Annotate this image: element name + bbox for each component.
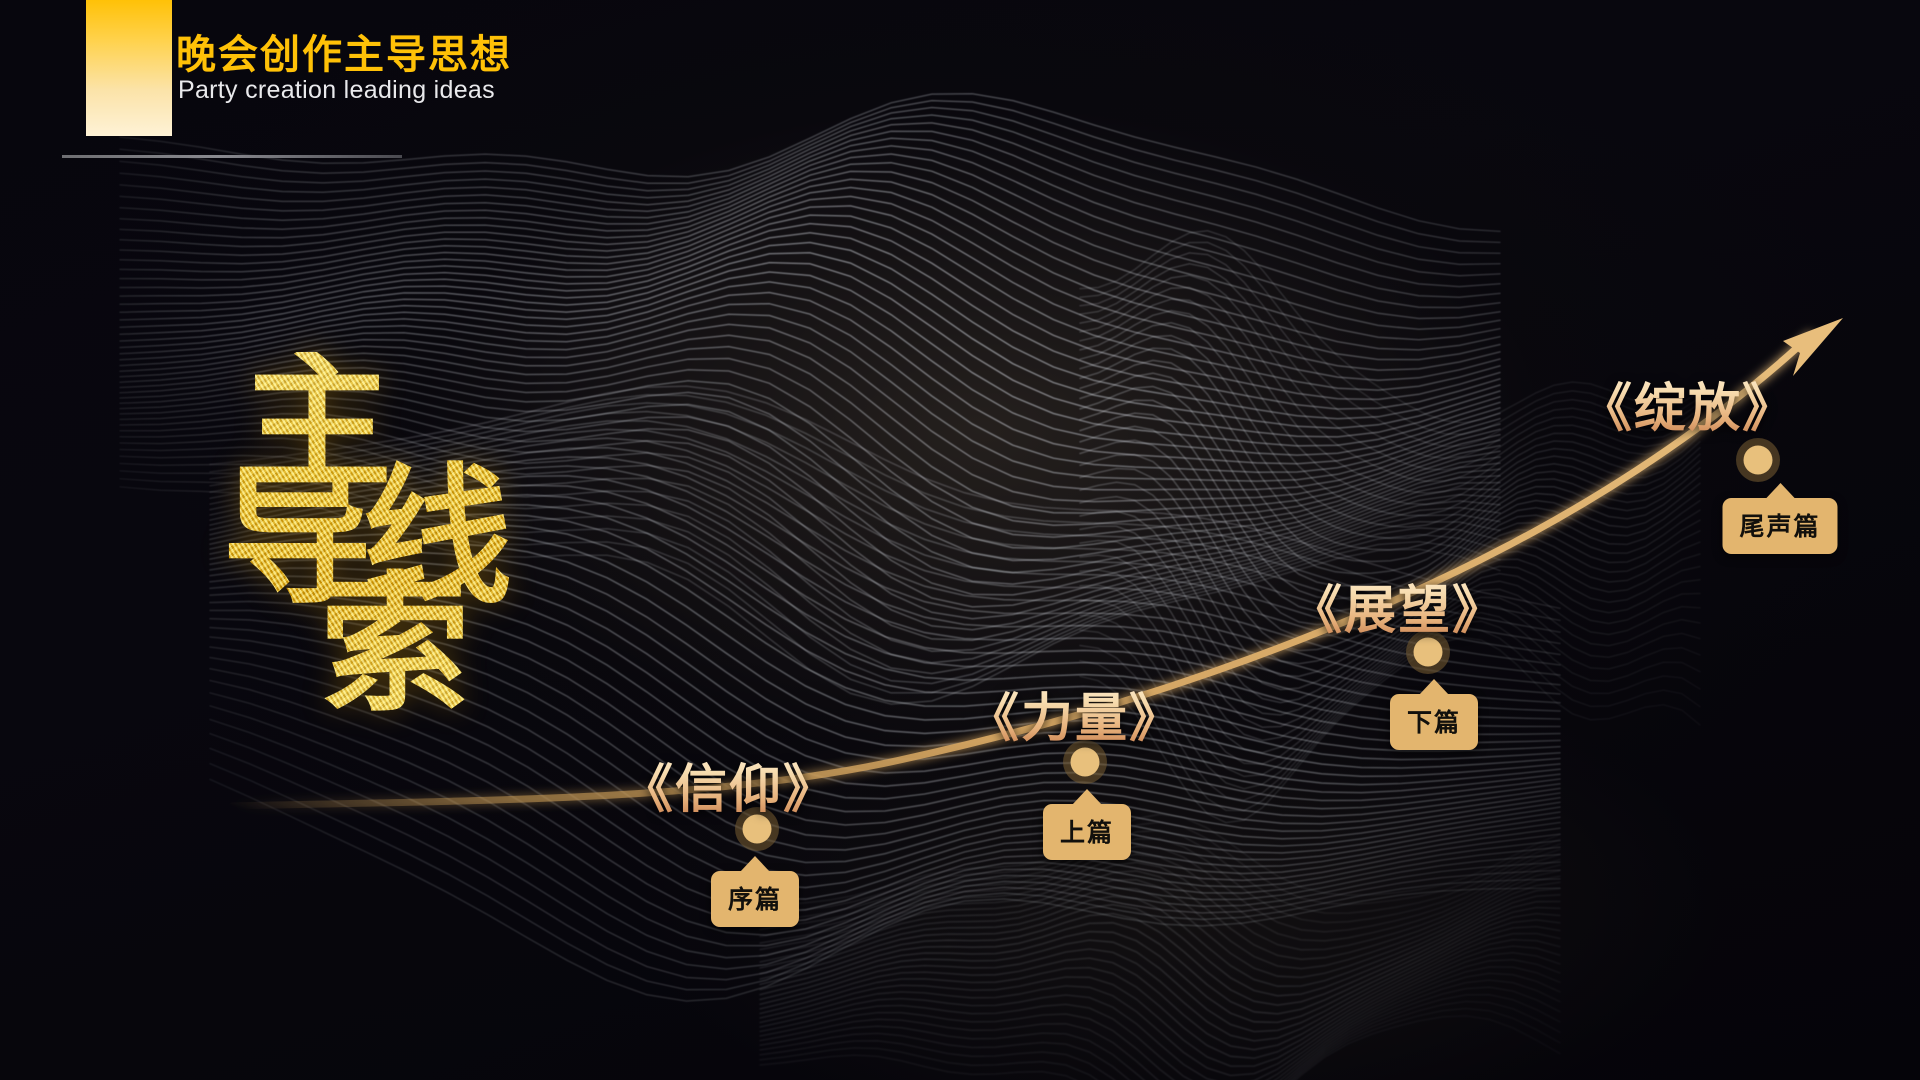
milestone-badge-4[interactable]: 尾声篇 bbox=[1722, 498, 1837, 554]
milestone-title-1: 《信仰》 bbox=[621, 747, 837, 822]
milestone-badge-3[interactable]: 下篇 bbox=[1390, 694, 1478, 750]
milestone-node-4[interactable] bbox=[1736, 438, 1780, 482]
milestone-badge-2[interactable]: 上篇 bbox=[1043, 804, 1131, 860]
milestone-title-2: 《力量》 bbox=[967, 676, 1183, 751]
milestone-title-3: 《展望》 bbox=[1290, 568, 1506, 643]
milestone-title-4: 《绽放》 bbox=[1580, 366, 1796, 441]
timeline-curve bbox=[0, 0, 1920, 1080]
slide-canvas: 晚会创作主导思想 Party creation leading ideas 主 … bbox=[0, 0, 1920, 1080]
milestone-badge-1[interactable]: 序篇 bbox=[711, 871, 799, 927]
